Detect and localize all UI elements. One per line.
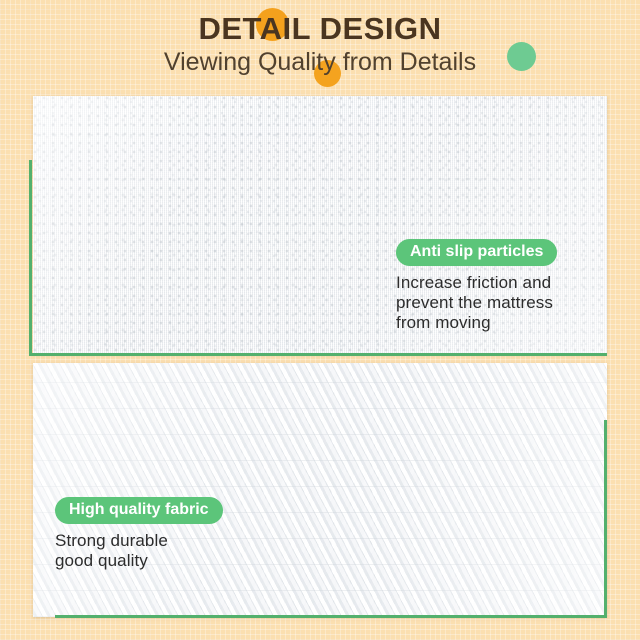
callout-anti-slip-description: Increase friction and prevent the mattre…: [396, 273, 592, 333]
callout-anti-slip: Anti slip particles Increase friction an…: [396, 239, 592, 333]
panel-1-left-accent-border: [29, 160, 32, 356]
title-container: DETAIL DESIGN: [0, 10, 640, 48]
panel-2-right-accent-border: [604, 420, 607, 618]
callout-anti-slip-pill: Anti slip particles: [396, 239, 557, 266]
product-photo-fabric: [33, 363, 607, 617]
callout-fabric-description: Strong durable good quality: [55, 531, 285, 571]
subtitle-container: Viewing Quality from Details: [0, 46, 640, 78]
photo-sheen-2: [33, 363, 607, 617]
page-title-text: DETAIL DESIGN: [198, 11, 441, 46]
page-header: DETAIL DESIGN Viewing Quality from Detai…: [0, 0, 640, 95]
page-subtitle-text: Viewing Quality from Details: [164, 48, 476, 76]
panel-1-bottom-accent-border: [29, 353, 607, 356]
page-subtitle: Viewing Quality from Details: [164, 46, 476, 78]
green-circle-1-icon: [507, 42, 536, 71]
page-title: DETAIL DESIGN: [198, 10, 441, 48]
panel-2-bottom-accent-border: [55, 615, 607, 618]
fabric-texture-image: [33, 363, 607, 617]
callout-fabric: High quality fabric Strong durable good …: [55, 497, 285, 571]
callout-fabric-pill: High quality fabric: [55, 497, 223, 524]
